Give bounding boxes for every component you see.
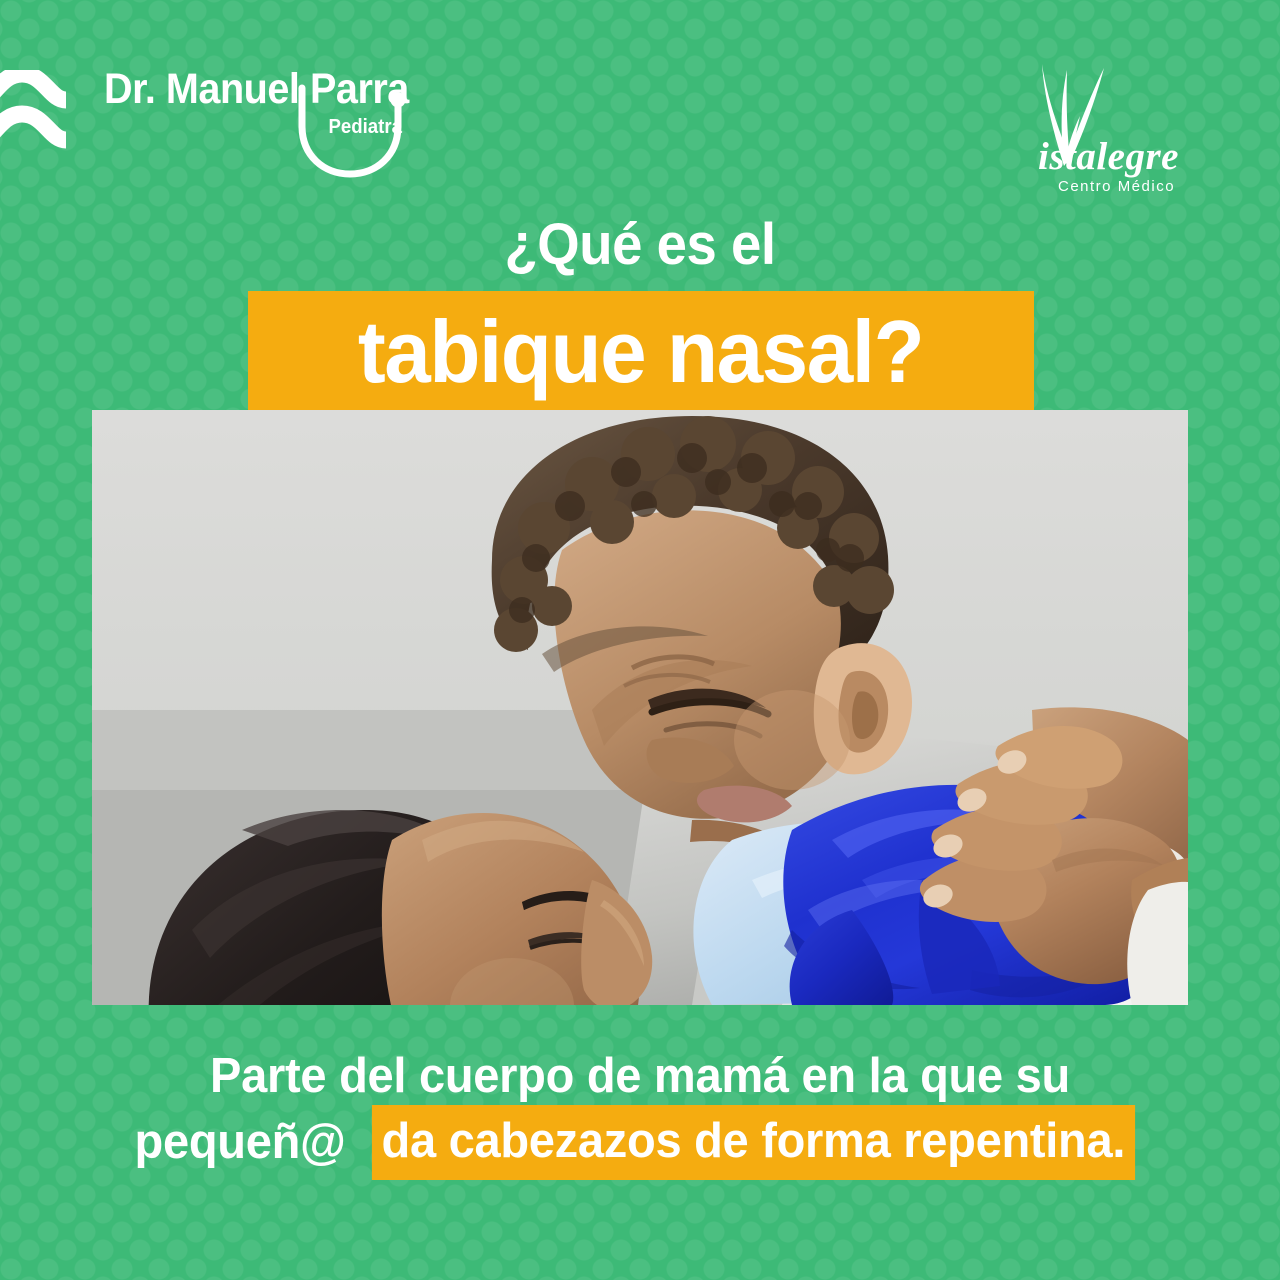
clinic-logo[interactable]: istalegre Centro Médico [1012, 62, 1222, 202]
doctor-specialty: Pediatra [329, 116, 402, 139]
poster-canvas: Dr. Manuel Parra Pediatra istalegre Cent… [0, 0, 1280, 1280]
hero-photo [92, 410, 1188, 1005]
headline-line-2: tabique nasal? [358, 308, 923, 396]
caption-line-2: pequeñ@ da cabezazos de forma repentina. [0, 1113, 1280, 1171]
clinic-subtitle: Centro Médico [1058, 178, 1175, 195]
double-wave-icon [0, 70, 92, 160]
headline-line-1: ¿Qué es el [38, 216, 1241, 274]
doctor-logo[interactable]: Dr. Manuel Parra Pediatra [0, 62, 430, 172]
doctor-name: Dr. Manuel Parra [104, 68, 409, 111]
clinic-name: istalegre [1038, 134, 1179, 179]
caption-line-1: Parte del cuerpo de mamá en la que su [26, 1052, 1255, 1101]
hero-photo-illustration [92, 410, 1188, 1005]
caption-highlight-text: da cabezazos de forma repentina. [372, 1105, 1135, 1180]
doctor-brand-block: Dr. Manuel Parra Pediatra [104, 68, 424, 168]
headline-highlight-box: tabique nasal? [248, 291, 1034, 412]
caption-plain-text: pequeñ@ [134, 1118, 351, 1167]
